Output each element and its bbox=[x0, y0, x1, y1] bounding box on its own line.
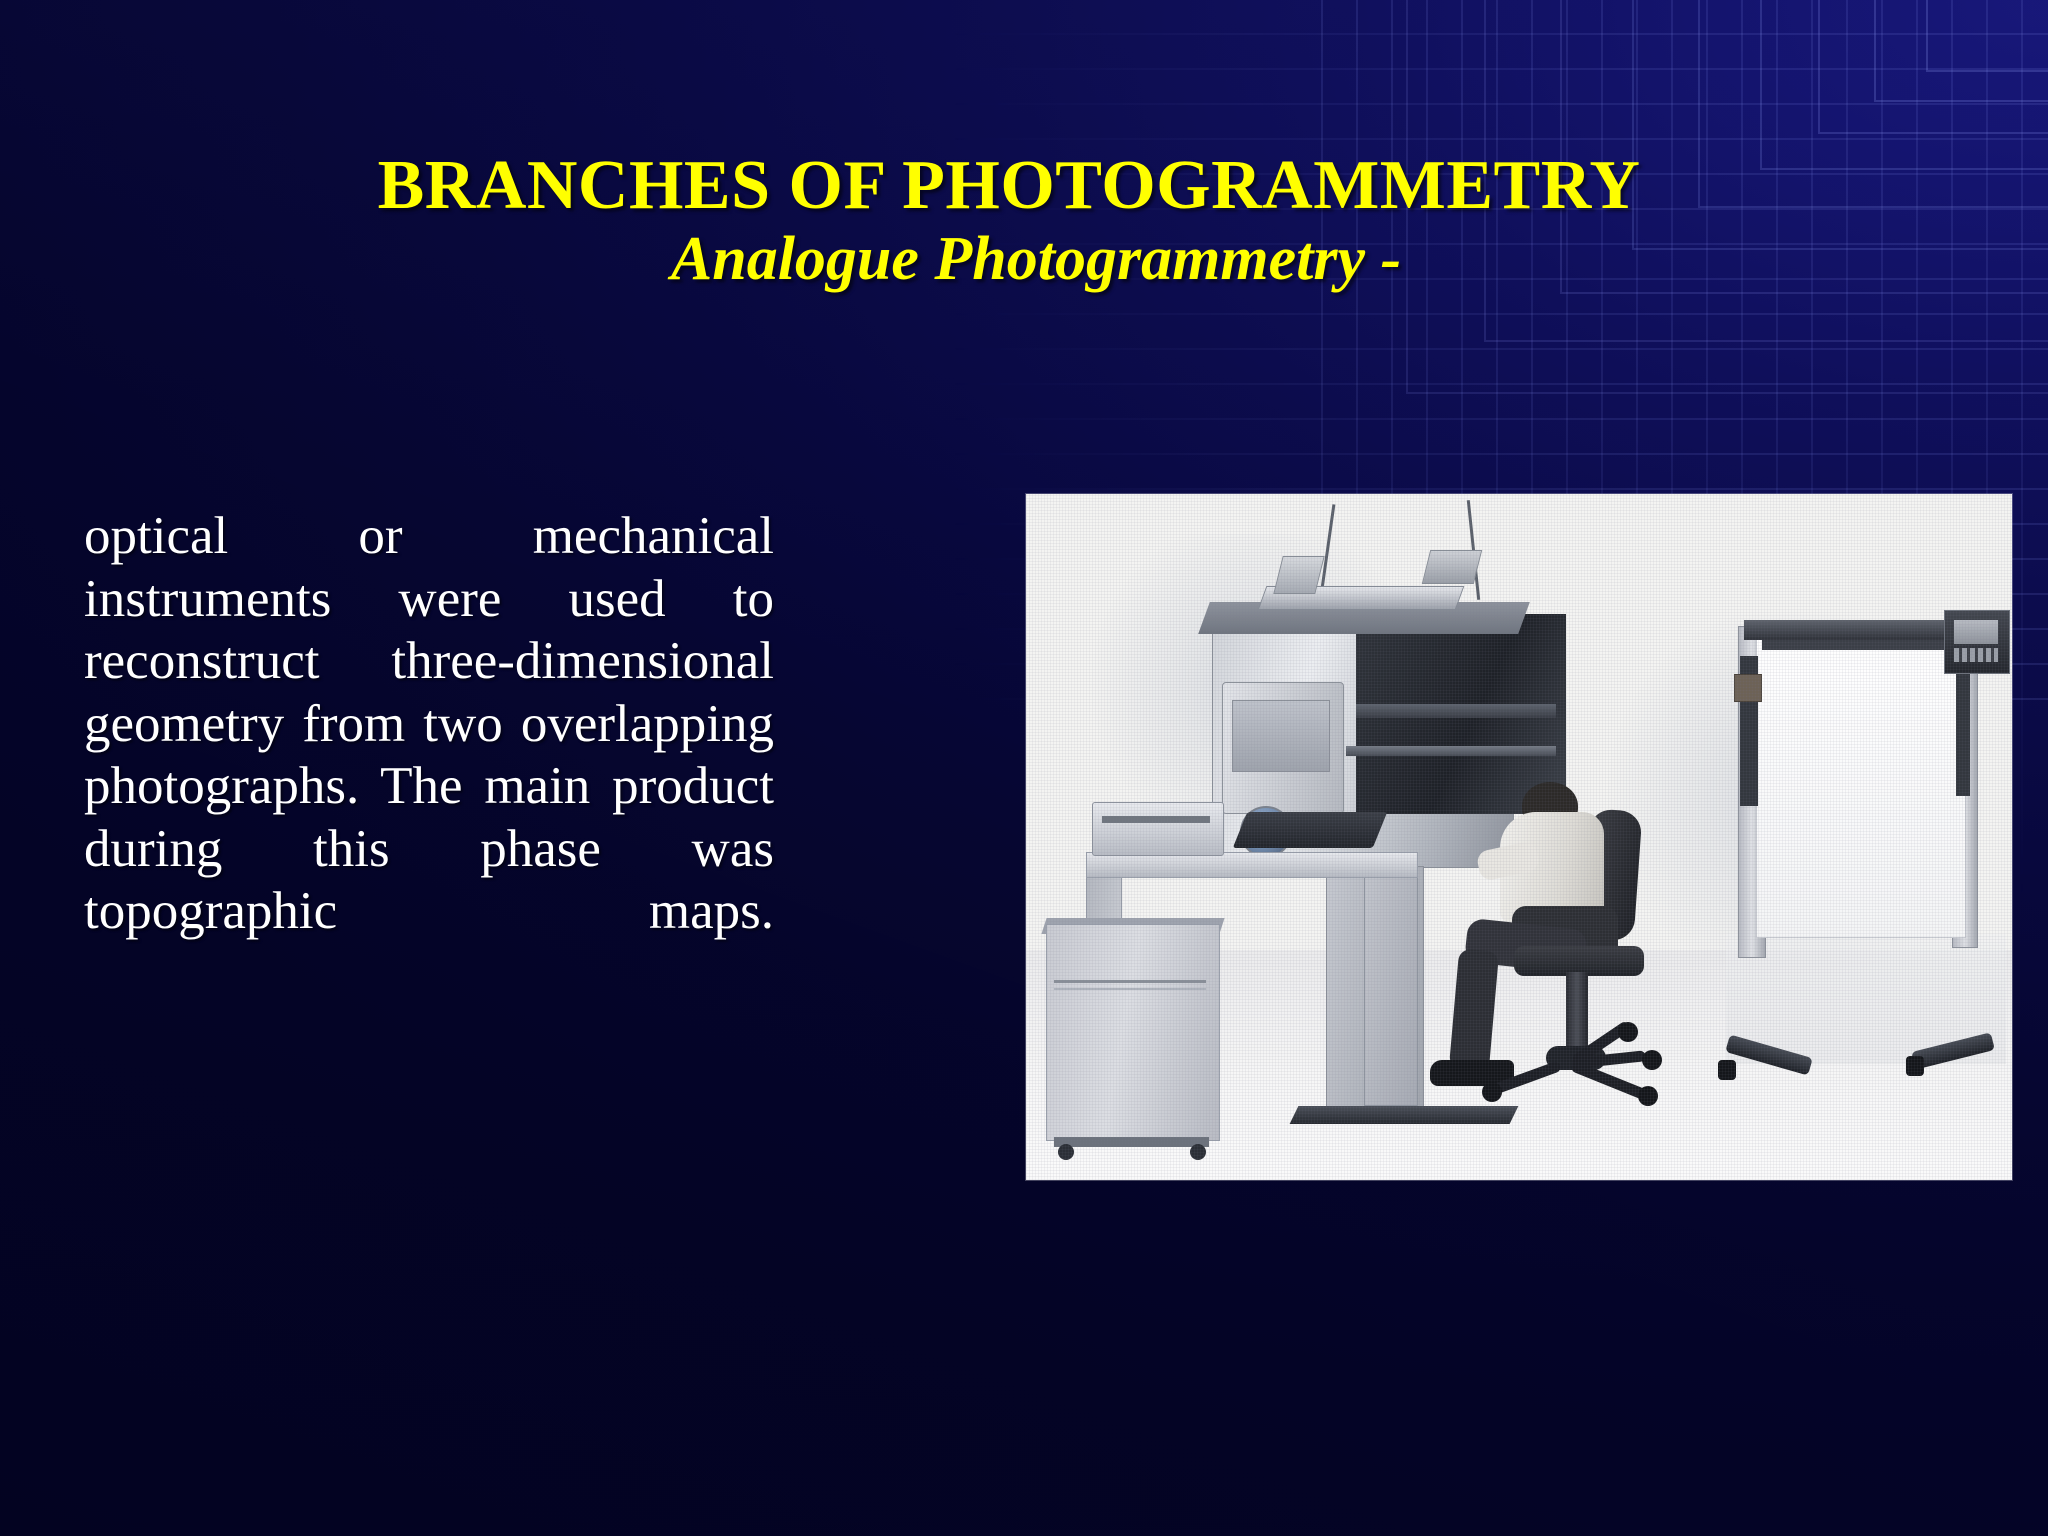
plotter-pen-head bbox=[1734, 674, 1762, 702]
stereoplotter-photo bbox=[1026, 494, 2012, 1180]
instrument-block-right bbox=[1422, 550, 1482, 584]
chair-caster bbox=[1618, 1022, 1638, 1042]
cabinet-foot bbox=[1054, 1137, 1209, 1147]
chair-gas-post bbox=[1566, 972, 1588, 1056]
title-block: BRANCHES OF PHOTOGRAMMETRY Analogue Phot… bbox=[0, 150, 2048, 292]
plotter-gantry-rail bbox=[1762, 640, 1968, 650]
page-title: BRANCHES OF PHOTOGRAMMETRY bbox=[0, 150, 2048, 221]
instrument-arm-lower bbox=[1346, 746, 1556, 756]
cabinet-drawer-line bbox=[1054, 988, 1206, 990]
instrument-arm-upper bbox=[1356, 704, 1556, 718]
desk-right-side bbox=[1364, 874, 1418, 1106]
plotter-control-keys bbox=[1954, 648, 1998, 662]
cabinet-drawer-line bbox=[1054, 980, 1206, 983]
desk-printer bbox=[1092, 802, 1224, 856]
page-subtitle: Analogue Photogrammetry - bbox=[0, 227, 2048, 292]
plotter-foot-cap-right bbox=[1906, 1056, 1924, 1076]
cabinet-body bbox=[1046, 924, 1220, 1141]
plotter-foot-cap-left bbox=[1718, 1060, 1736, 1080]
chair-caster bbox=[1642, 1050, 1662, 1070]
chair-caster bbox=[1638, 1086, 1658, 1106]
plotter-drawing-board bbox=[1756, 636, 1966, 938]
body-paragraph: optical or mechanical instruments were u… bbox=[84, 505, 774, 1005]
plotter-control-screen bbox=[1954, 620, 1998, 644]
instrument-viewer-panel bbox=[1232, 700, 1330, 772]
plotter-right-rail bbox=[1956, 656, 1970, 796]
cabinet-wheel-right bbox=[1190, 1144, 1206, 1160]
chair-caster bbox=[1482, 1082, 1502, 1102]
slide-canvas: BRANCHES OF PHOTOGRAMMETRY Analogue Phot… bbox=[0, 0, 2048, 1536]
desk-printer-slot bbox=[1102, 816, 1210, 823]
desk-keyboard bbox=[1233, 812, 1388, 848]
cabinet-wheel-left bbox=[1058, 1144, 1074, 1160]
instrument-floor-bar bbox=[1290, 1106, 1519, 1124]
